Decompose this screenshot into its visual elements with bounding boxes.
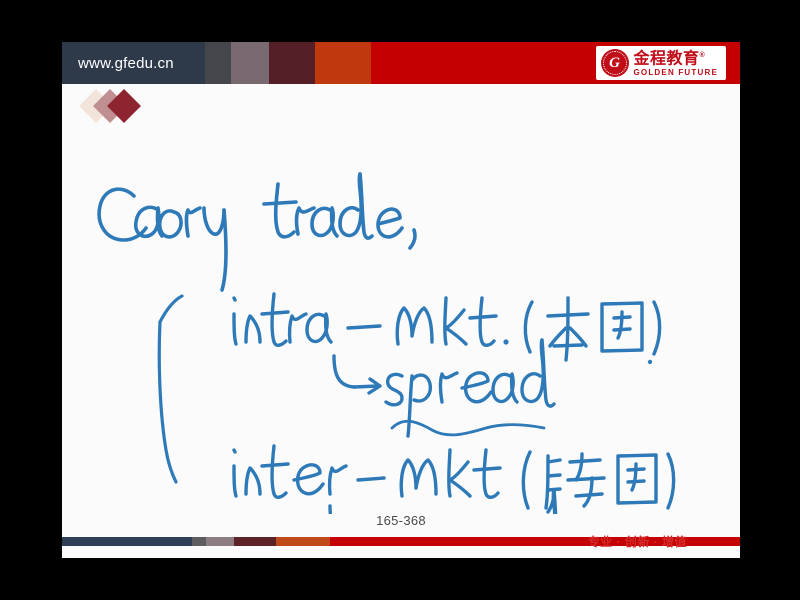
tagline-bar-right: [692, 539, 726, 545]
band-dark-gray: [205, 42, 231, 84]
logo-name-chinese: 金程教育®: [634, 48, 719, 67]
handwritten-title: [99, 174, 415, 290]
handwritten-line-spread-1: [334, 340, 554, 436]
band-dark-maroon: [269, 42, 315, 84]
logo-name-chinese-text: 金程教育: [634, 51, 700, 68]
handwritten-grouping-brace: [159, 296, 182, 482]
seal-monogram-letter: G: [609, 56, 620, 71]
footer-band-maroon: [234, 537, 276, 546]
tagline-text: 专业 · 创新 · 增值: [588, 533, 687, 550]
tagline-bar-left: [549, 539, 583, 545]
video-player-frame: www.gfedu.cn G 金程教育® GOLDEN FUTURE: [0, 0, 800, 600]
footer-band-navy: [62, 537, 192, 546]
handwriting-annotation-layer: [62, 84, 740, 514]
logo-name-english: GOLDEN FUTURE: [634, 68, 719, 78]
website-url-block: www.gfedu.cn: [62, 42, 205, 84]
slide-header: www.gfedu.cn G 金程教育® GOLDEN FUTURE: [62, 42, 740, 84]
golden-future-logo: G 金程教育® GOLDEN FUTURE: [596, 46, 727, 80]
page-number: 165-368: [62, 513, 740, 528]
seal-emblem-icon: G: [601, 49, 629, 77]
footer-band-gray: [192, 537, 206, 546]
tagline-block: 专业 · 创新 · 增值: [549, 533, 726, 550]
footer-band-mauve: [206, 537, 234, 546]
logo-text-block: 金程教育® GOLDEN FUTURE: [634, 48, 719, 77]
header-red-fill: G 金程教育® GOLDEN FUTURE: [371, 42, 740, 84]
band-mauve-gray: [231, 42, 269, 84]
presentation-slide: www.gfedu.cn G 金程教育® GOLDEN FUTURE: [62, 42, 740, 558]
logo-registered-mark: ®: [700, 52, 706, 59]
website-url-text: www.gfedu.cn: [78, 55, 174, 72]
band-orange-red: [315, 42, 371, 84]
handwritten-line-inter: [234, 446, 674, 512]
handwritten-line-intra: [234, 294, 660, 364]
footer-band-orange: [276, 537, 330, 546]
